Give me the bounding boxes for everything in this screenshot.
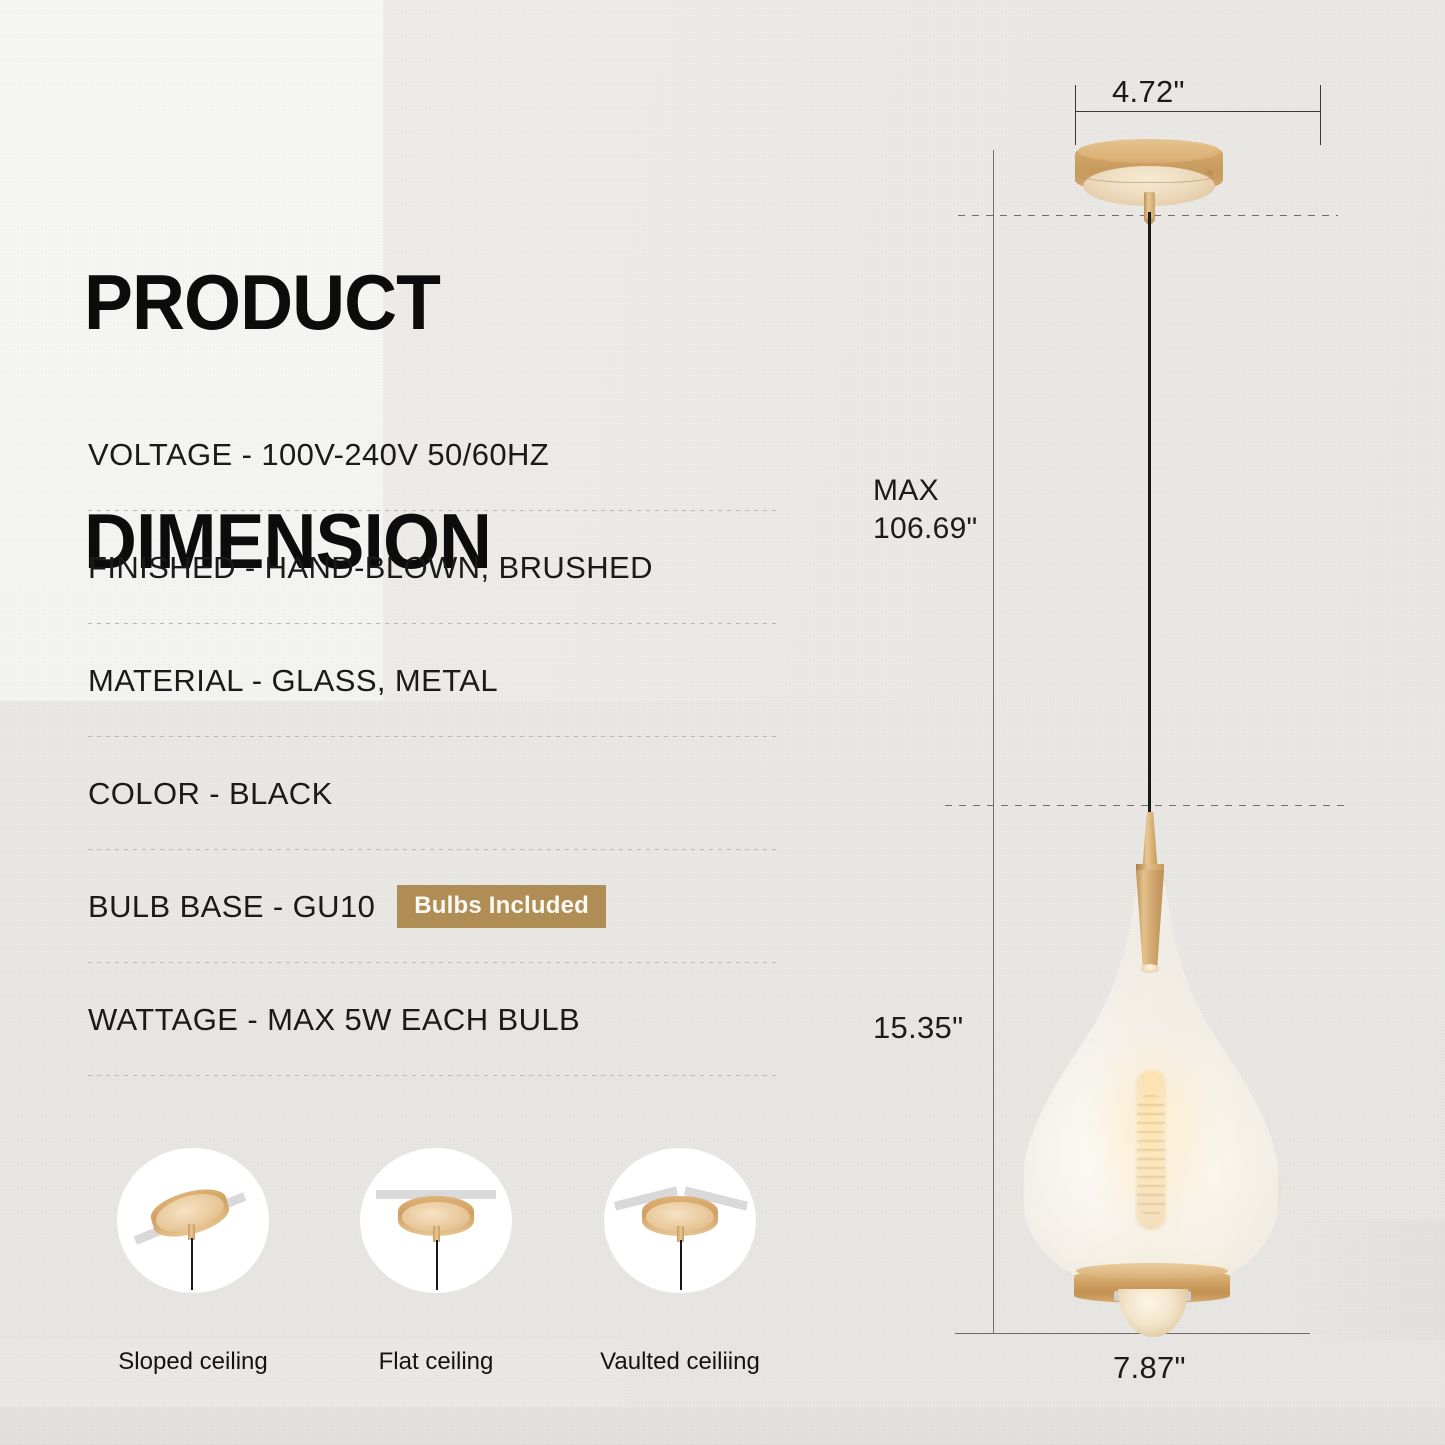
bulb-clip-right	[1184, 1291, 1191, 1301]
bulb-clip-left	[1114, 1291, 1121, 1301]
ceiling-vaulted-item: Vaulted ceiliing	[599, 1148, 761, 1293]
background-bottom-strip	[0, 1407, 1445, 1445]
dimension-label-shade-width: 7.87"	[1113, 1348, 1186, 1387]
spec-wattage-text: WATTAGE - MAX 5W EACH BULB	[88, 1002, 580, 1038]
ceiling-flat-label: Flat ceiling	[379, 1348, 494, 1375]
ceiling-sloped-item: Sloped ceiling	[112, 1148, 274, 1293]
glass-shade-body	[1018, 862, 1284, 1292]
cord-icon	[436, 1240, 438, 1290]
ceiling-vaulted-label: Vaulted ceiliing	[600, 1348, 760, 1375]
dimension-label-fixture-height: 15.35"	[873, 1008, 963, 1047]
spec-row-material: MATERIAL - GLASS, METAL	[88, 624, 780, 737]
ceiling-sloped-label: Sloped ceiling	[118, 1348, 267, 1375]
ceiling-flat-thumbnail	[360, 1148, 512, 1293]
gold-cone-top	[1140, 812, 1160, 868]
ceiling-vaulted-caption-wrap: Vaulted ceiliing	[599, 1348, 761, 1376]
dimension-dashed-line-mid	[945, 805, 1345, 806]
background-right-shade	[1285, 1220, 1445, 1340]
spec-bulb-base-text: BULB BASE - GU10	[88, 889, 375, 925]
infographic-canvas: PRODUCT DIMENSION VOLTAGE - 100V-240V 50…	[0, 0, 1445, 1445]
dimension-baseline	[955, 1333, 1310, 1334]
ceiling-sloped-thumbnail	[117, 1148, 269, 1293]
spec-row-color: COLOR - BLACK	[88, 737, 780, 850]
spec-color-text: COLOR - BLACK	[88, 776, 333, 812]
spec-finished-text: FINISHED - HAND-BLOWN, BRUSHED	[88, 550, 653, 586]
bulb-filament-coils	[1137, 1095, 1165, 1215]
bottom-ring-top-edge	[1076, 1263, 1228, 1279]
ceiling-vaulted-thumbnail	[604, 1148, 756, 1293]
spec-list: VOLTAGE - 100V-240V 50/60HZ FINISHED - H…	[88, 398, 780, 1076]
spec-row-bulb-base: BULB BASE - GU10 Bulbs Included	[88, 850, 780, 963]
gold-cone-tip-light	[1141, 964, 1159, 973]
spec-material-text: MATERIAL - GLASS, METAL	[88, 663, 498, 699]
ceiling-sloped-caption-wrap: Sloped ceiling	[112, 1348, 274, 1376]
spec-row-voltage: VOLTAGE - 100V-240V 50/60HZ	[88, 398, 780, 511]
ceiling-flat-caption-wrap: Flat ceiling	[355, 1348, 517, 1376]
background-panel-bottom-left	[0, 1339, 626, 1407]
spec-row-wattage: WATTAGE - MAX 5W EACH BULB	[88, 963, 780, 1076]
page-title-line1: PRODUCT	[84, 263, 491, 343]
gold-cone-body	[1134, 870, 1166, 970]
spec-row-finished: FINISHED - HAND-BLOWN, BRUSHED	[88, 511, 780, 624]
spec-voltage-text: VOLTAGE - 100V-240V 50/60HZ	[88, 437, 549, 473]
bulb-filament	[1136, 1070, 1166, 1230]
cord-icon	[680, 1240, 682, 1290]
bottom-gold-ring	[1074, 1263, 1230, 1311]
spec-divider	[88, 1075, 780, 1076]
gold-cone-collar	[1136, 864, 1164, 872]
glass-shade-edges	[1018, 862, 1284, 1292]
glass-shade-glow	[1084, 1032, 1218, 1232]
ceiling-flat-item: Flat ceiling	[355, 1148, 517, 1293]
bulb-dome	[1118, 1289, 1188, 1337]
cord-icon	[191, 1238, 193, 1290]
gold-cone	[1128, 812, 1172, 982]
bottom-ring-band	[1074, 1269, 1230, 1303]
glass-shade	[1018, 862, 1284, 1292]
bulbs-included-badge: Bulbs Included	[397, 885, 606, 928]
